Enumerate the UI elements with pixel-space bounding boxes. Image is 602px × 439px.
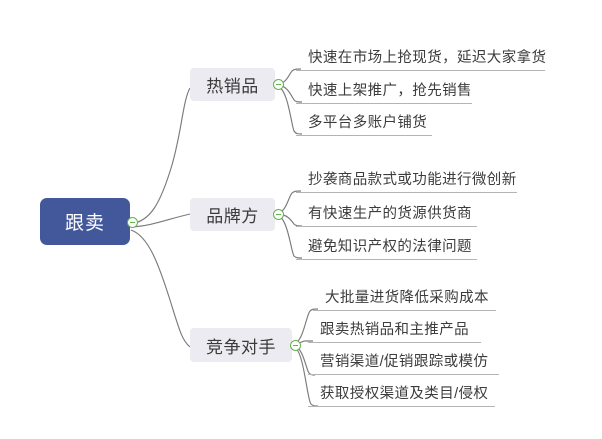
leaf-node[interactable]: 获取授权渠道及类目/侵权 [320,384,488,406]
leaf-node[interactable]: 快速上架推广，抢先销售 [308,81,472,103]
leaf-node-label: 快速上架推广，抢先销售 [308,79,472,100]
leaf-node[interactable]: 避免知识产权的法律问题 [308,237,472,259]
leaf-underline [308,374,499,375]
leaf-node[interactable]: 大批量进货降低采购成本 [325,288,489,310]
leaf-node[interactable]: 营销渠道/促销跟踪或模仿 [320,352,488,374]
leaf-node[interactable]: 快速在市场上抢现货，延迟大家拿货 [308,48,546,70]
branch-node-competitors[interactable]: 竞争对手 [190,328,292,362]
edge-branch-3-to-leaf-1 [294,309,318,343]
edge-branch-1-to-leaf-3 [277,86,302,134]
leaf-underline [296,70,545,71]
root-collapse-minus-circle-icon[interactable] [127,217,138,228]
branch-node-hot-selling[interactable]: 热销品 [190,68,275,101]
branch-node-label: 品牌方 [206,202,259,227]
branch-node-label: 热销品 [206,72,259,97]
root-node-label: 跟卖 [65,208,105,235]
branch-node-brand-owner[interactable]: 品牌方 [190,198,275,231]
leaf-underline [296,226,477,227]
leaf-underline [313,310,496,311]
leaf-underline [296,103,472,104]
leaf-underline [308,406,495,407]
branch-1-collapse-minus-circle-icon[interactable] [273,79,284,90]
edge-root-to-branch-1 [131,88,190,224]
edge-branch-2-to-leaf-3 [277,215,302,258]
branch-node-label: 竞争对手 [206,333,276,358]
edge-branch-3-to-leaf-4 [294,347,318,406]
leaf-node-label: 获取授权渠道及类目/侵权 [320,382,488,403]
leaf-node-label: 跟卖热销品和主推产品 [320,318,469,339]
leaf-node-label: 大批量进货降低采购成本 [325,286,489,307]
leaf-underline [296,192,517,193]
branch-2-collapse-minus-circle-icon[interactable] [273,209,284,220]
root-node[interactable]: 跟卖 [40,198,130,245]
edge-root-to-branch-2 [131,214,190,227]
leaf-node-label: 抄袭商品款式或功能进行微创新 [308,168,517,189]
leaf-node[interactable]: 有快速生产的货源供货商 [308,204,472,226]
mindmap-canvas: 跟卖 热销品 快速在市场上抢现货，延迟大家拿货 快速上架推广，抢先销售 多平台多… [0,0,602,439]
leaf-node-label: 有快速生产的货源供货商 [308,202,472,223]
leaf-node-label: 避免知识产权的法律问题 [308,235,472,256]
branch-3-collapse-minus-circle-icon[interactable] [290,340,301,351]
leaf-node-label: 多平台多账户铺货 [308,111,427,132]
leaf-node-label: 营销渠道/促销跟踪或模仿 [320,350,488,371]
leaf-underline [296,135,432,136]
edge-root-to-branch-3 [131,230,190,347]
leaf-underline [296,259,477,260]
leaf-node[interactable]: 抄袭商品款式或功能进行微创新 [308,170,517,192]
leaf-node-label: 快速在市场上抢现货，延迟大家拿货 [308,46,546,67]
leaf-node[interactable]: 多平台多账户铺货 [308,113,427,135]
leaf-underline [308,342,481,343]
leaf-node[interactable]: 跟卖热销品和主推产品 [320,320,469,342]
